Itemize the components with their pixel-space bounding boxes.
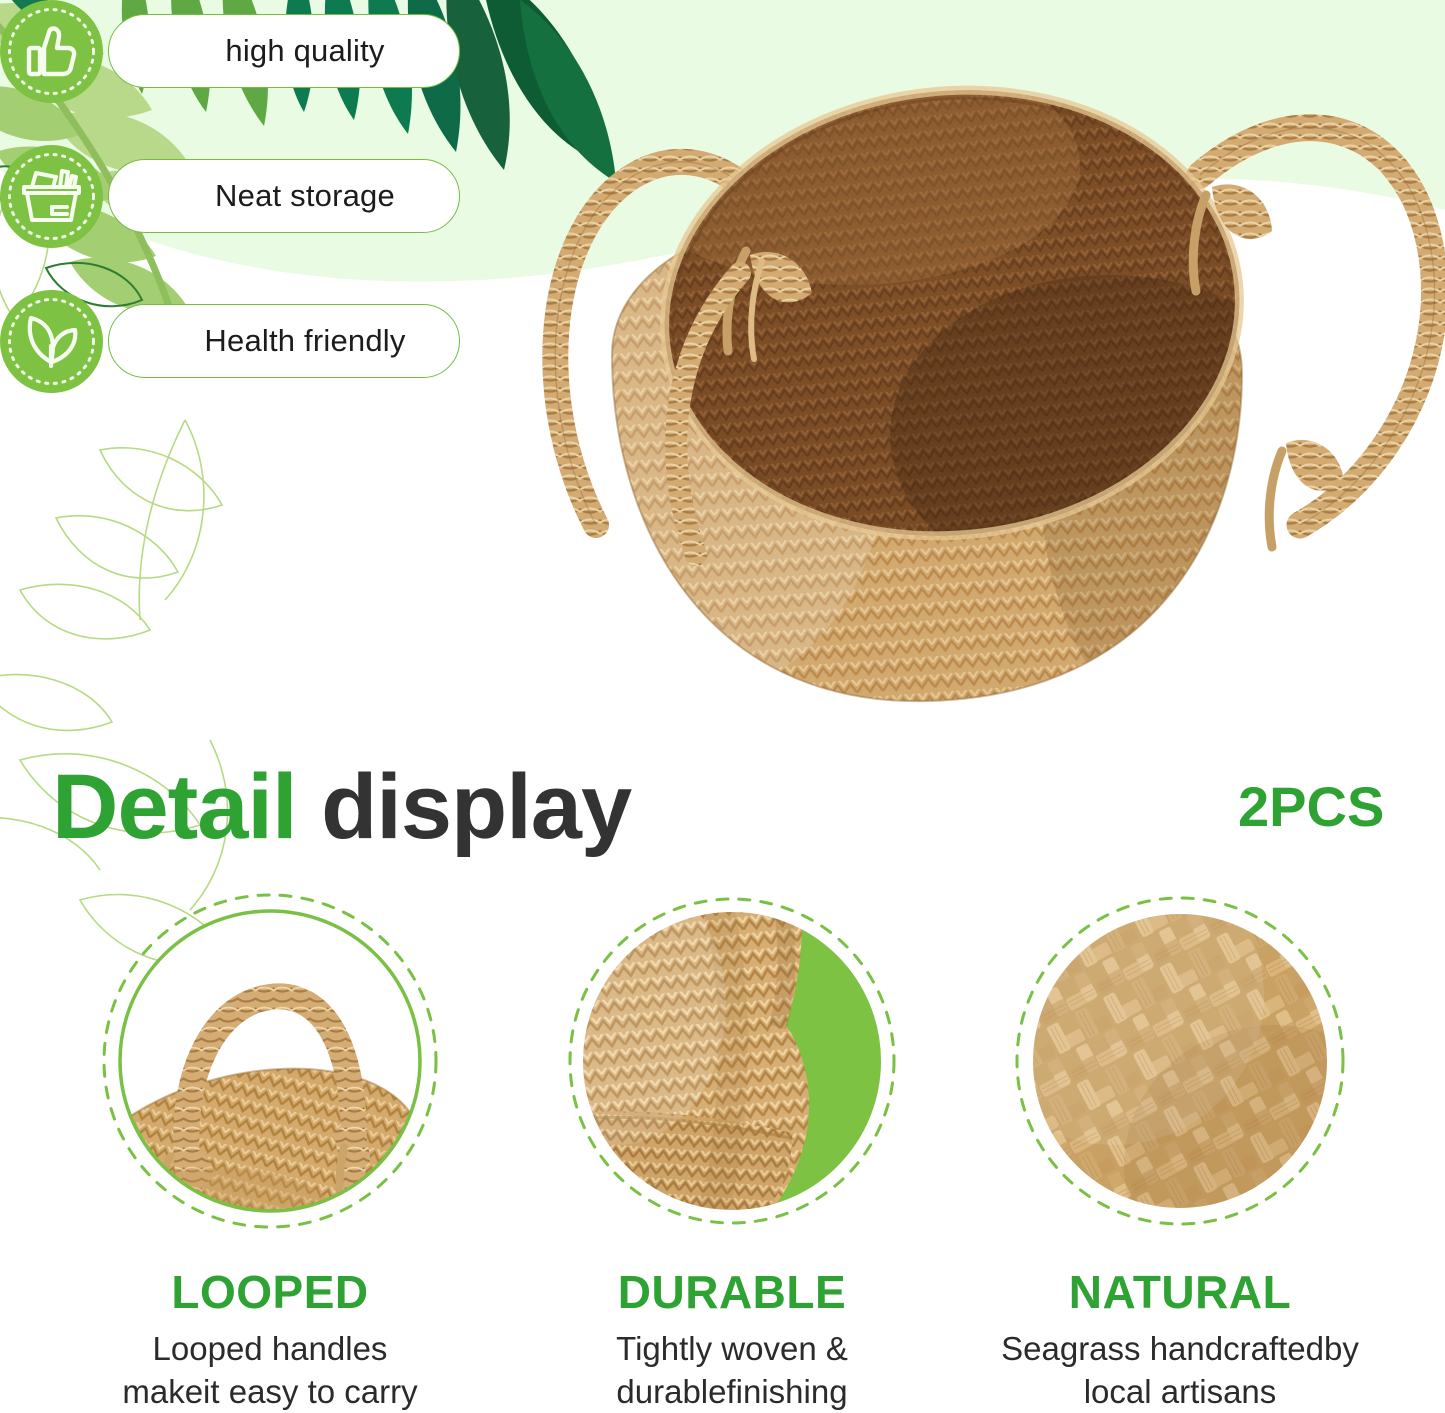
detail-circle-image bbox=[556, 885, 908, 1237]
detail-caption: NATURAL Seagrass handcraftedby local art… bbox=[980, 1265, 1380, 1413]
page-title-dark-word: display bbox=[321, 756, 631, 858]
detail-caption: LOOPED Looped handles makeit easy to car… bbox=[70, 1265, 470, 1413]
feature-pill: Health friendly bbox=[108, 304, 460, 378]
detail-title: NATURAL bbox=[980, 1265, 1380, 1319]
detail-desc-line: Tightly woven & bbox=[532, 1327, 932, 1370]
detail-title: LOOPED bbox=[70, 1265, 470, 1319]
leaves-icon bbox=[0, 290, 103, 393]
detail-desc-line: durablefinishing bbox=[532, 1370, 932, 1413]
detail-title: DURABLE bbox=[532, 1265, 932, 1319]
detail-desc-line: local artisans bbox=[980, 1370, 1380, 1413]
detail-item-looped: LOOPED Looped handles makeit easy to car… bbox=[70, 885, 470, 1413]
feature-item-health-friendly[interactable]: Health friendly bbox=[0, 290, 470, 393]
feature-label: Neat storage bbox=[109, 178, 459, 214]
feature-pill: Neat storage bbox=[108, 159, 460, 233]
detail-circle-image bbox=[94, 885, 446, 1237]
hero-product-image bbox=[500, 55, 1445, 855]
detail-desc-line: makeit easy to carry bbox=[70, 1370, 470, 1413]
feature-item-high-quality[interactable]: high quality bbox=[0, 0, 470, 103]
detail-desc-line: Looped handles bbox=[70, 1327, 470, 1370]
quantity-badge: 2PCS bbox=[1238, 774, 1384, 839]
feature-label: Health friendly bbox=[109, 323, 459, 359]
feature-list: high quality Neat storage bbox=[0, 0, 470, 393]
detail-item-natural: NATURAL Seagrass handcraftedby local art… bbox=[980, 885, 1380, 1413]
storage-basket-icon bbox=[0, 145, 103, 248]
thumbs-up-icon bbox=[0, 0, 103, 103]
feature-pill: high quality bbox=[108, 14, 460, 88]
detail-circle-image bbox=[1004, 885, 1356, 1237]
detail-desc-line: Seagrass handcraftedby bbox=[980, 1327, 1380, 1370]
page-title-green-word: Detail bbox=[52, 756, 297, 858]
feature-item-neat-storage[interactable]: Neat storage bbox=[0, 145, 470, 248]
feature-label: high quality bbox=[109, 33, 459, 69]
page-title: Detail display bbox=[52, 757, 812, 857]
detail-item-durable: DURABLE Tightly woven & durablefinishing bbox=[532, 885, 932, 1413]
detail-caption: DURABLE Tightly woven & durablefinishing bbox=[532, 1265, 932, 1413]
